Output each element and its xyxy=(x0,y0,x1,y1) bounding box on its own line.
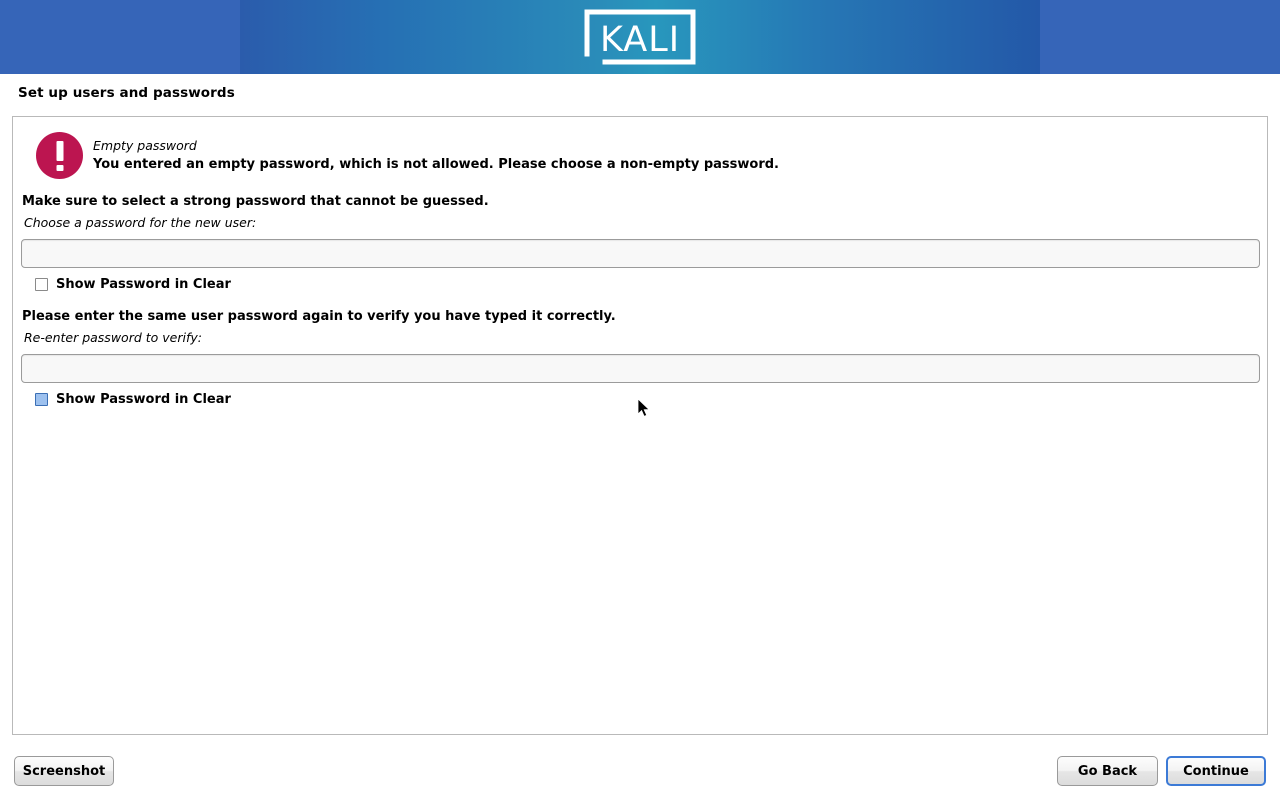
page-title: Set up users and passwords xyxy=(18,85,235,101)
kali-logo: KALI xyxy=(583,8,697,66)
show-password-clear-checkbox-2[interactable] xyxy=(35,393,48,406)
verify-section-heading: Please enter the same user password agai… xyxy=(22,309,616,324)
screenshot-button[interactable]: Screenshot xyxy=(14,756,114,786)
kali-logo-text: KALI xyxy=(600,20,680,60)
show-password-clear-row-2[interactable]: Show Password in Clear xyxy=(22,392,252,410)
continue-button[interactable]: Continue xyxy=(1166,756,1266,786)
password-form: Make sure to select a strong password th… xyxy=(13,117,1267,734)
password-input[interactable] xyxy=(21,239,1260,268)
verify-field-label: Re-enter password to verify: xyxy=(24,330,202,345)
installer-window: KALI Set up users and passwords Empty pa… xyxy=(0,0,1280,800)
verify-password-input[interactable] xyxy=(21,354,1260,383)
password-section-heading: Make sure to select a strong password th… xyxy=(22,194,489,209)
go-back-button[interactable]: Go Back xyxy=(1057,756,1158,786)
show-password-clear-label-2: Show Password in Clear xyxy=(56,392,231,407)
password-field-label: Choose a password for the new user: xyxy=(24,215,256,230)
kali-banner: KALI xyxy=(0,0,1280,74)
show-password-clear-row-1[interactable]: Show Password in Clear xyxy=(22,277,252,295)
show-password-clear-checkbox-1[interactable] xyxy=(35,278,48,291)
show-password-clear-label-1: Show Password in Clear xyxy=(56,277,231,292)
main-content-panel: Empty password You entered an empty pass… xyxy=(12,116,1268,735)
